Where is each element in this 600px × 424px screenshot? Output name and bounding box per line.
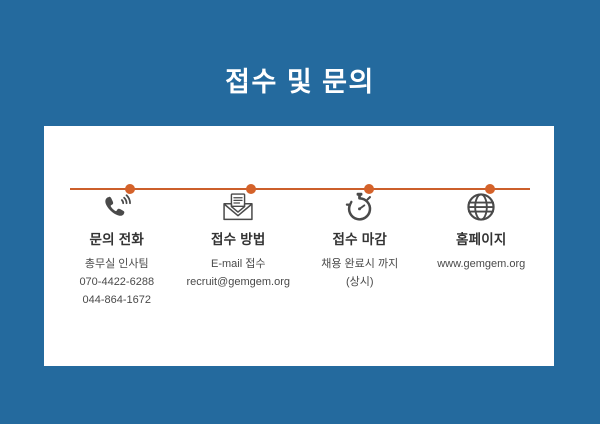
contact-column-homepage: 홈페이지 www.gemgem.org [421, 188, 543, 274]
detail-line: recruit@gemgem.org [180, 274, 298, 292]
stopwatch-icon [301, 188, 419, 226]
detail-line: E-mail 접수 [180, 256, 298, 274]
column-detail-lines: E-mail 접수 recruit@gemgem.org [180, 256, 298, 292]
contact-column-email: 접수 방법 E-mail 접수 recruit@gemgem.org [178, 188, 300, 292]
column-heading: 접수 마감 [301, 232, 419, 248]
envelope-mail-icon [180, 188, 298, 226]
contact-column-deadline: 접수 마감 채용 완료시 까지 (상시) [299, 188, 421, 292]
contact-columns: 문의 전화 총무실 인사팀 070-4422-6288 044-864-1672 [56, 188, 542, 310]
detail-line: (상시) [301, 274, 419, 292]
globe-icon [423, 188, 541, 226]
content-card: 문의 전화 총무실 인사팀 070-4422-6288 044-864-1672 [44, 126, 554, 366]
detail-line: 044-864-1672 [58, 292, 176, 310]
phone-ringing-icon [58, 188, 176, 226]
column-heading: 문의 전화 [58, 232, 176, 248]
column-detail-lines: 채용 완료시 까지 (상시) [301, 256, 419, 292]
contact-column-phone: 문의 전화 총무실 인사팀 070-4422-6288 044-864-1672 [56, 188, 178, 310]
column-detail-lines: www.gemgem.org [423, 256, 541, 274]
detail-line: 총무실 인사팀 [58, 256, 176, 274]
slide-canvas: 접수 및 문의 문의 전화 [0, 0, 600, 424]
detail-line: 070-4422-6288 [58, 274, 176, 292]
column-detail-lines: 총무실 인사팀 070-4422-6288 044-864-1672 [58, 256, 176, 309]
column-heading: 홈페이지 [423, 232, 541, 248]
detail-line: www.gemgem.org [423, 256, 541, 274]
column-heading: 접수 방법 [180, 232, 298, 248]
detail-line: 채용 완료시 까지 [301, 256, 419, 274]
page-title: 접수 및 문의 [0, 68, 600, 98]
